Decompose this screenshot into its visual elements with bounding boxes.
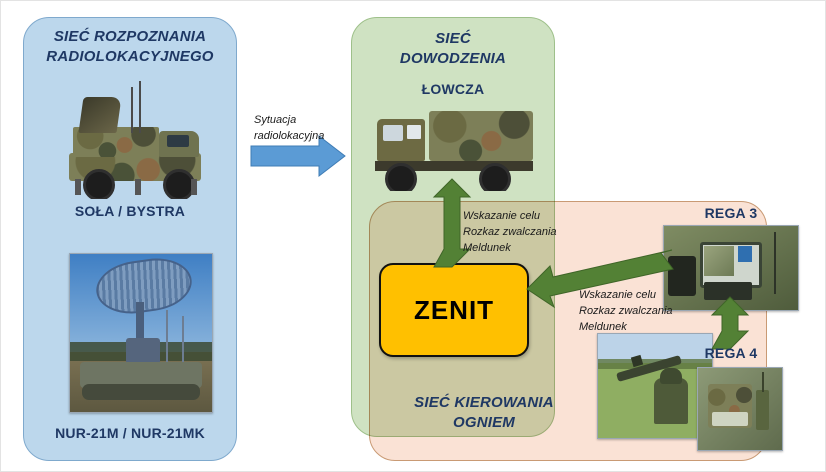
sola-bystra-label: SOŁA / BYSTRA: [23, 203, 237, 219]
flow-label-command-to-zenit: Wskazanie celu Rozkaz zwalczania Meldune…: [463, 209, 583, 257]
flow-label-zenit-to-rega: Wskazanie celu Rozkaz zwalczania Meldune…: [579, 288, 699, 336]
command-network-title: SIEĆ DOWODZENIA: [351, 29, 555, 69]
flow-label-radar-situation: Sytuacja radiolokacyjna: [254, 113, 344, 145]
command-truck-photo: [367, 105, 539, 191]
fire-network-title: SIEĆ KIEROWANIA OGNIEM: [369, 393, 599, 433]
rega4-equipment-photo: [697, 367, 783, 451]
radar-truck-photo: [59, 79, 219, 199]
nur-label: NUR-21M / NUR-21MK: [23, 425, 237, 441]
diagram-canvas: ZENIT SIEĆ ROZPOZNANIA RADIOLOKACYJNEGO …: [0, 0, 826, 472]
radar-dish-vehicle-photo: [69, 253, 213, 413]
rega3-label: REGA 3: [661, 205, 801, 221]
zenit-node[interactable]: ZENIT: [379, 263, 529, 357]
zenit-label: ZENIT: [414, 295, 494, 326]
lowcza-label: ŁOWCZA: [351, 81, 555, 97]
rega4-label: REGA 4: [661, 345, 801, 361]
recon-network-title: SIEĆ ROZPOZNANIA RADIOLOKACYJNEGO: [23, 27, 237, 67]
